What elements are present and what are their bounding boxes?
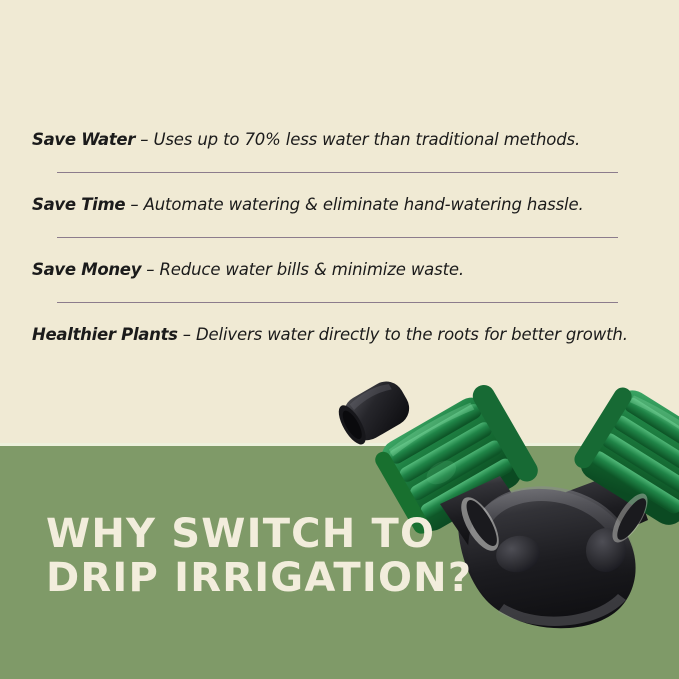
- benefit-term: Save Water: [32, 130, 135, 149]
- benefit-term: Healthier Plants: [32, 325, 178, 344]
- headline-line-1: WHY SWITCH TO: [46, 512, 466, 556]
- page-title: WHY SWITCH TO DRIP IRRIGATION?: [46, 512, 466, 600]
- benefit-divider-2: [57, 237, 618, 238]
- benefit-description: Delivers water directly to the roots for…: [196, 325, 628, 344]
- benefit-divider-1: [57, 172, 618, 173]
- benefit-text: Save Time – Automate watering & eliminat…: [32, 191, 647, 218]
- headline-line-2: DRIP IRRIGATION?: [46, 556, 466, 600]
- promo-banner: Save Water – Uses up to 70% less water t…: [0, 0, 679, 679]
- benefit-item-save-money: Save Money – Reduce water bills & minimi…: [0, 256, 679, 283]
- benefit-term: Save Time: [32, 195, 125, 214]
- benefit-divider-3: [57, 302, 618, 303]
- benefit-dash: –: [141, 260, 159, 279]
- benefit-term: Save Money: [32, 260, 141, 279]
- benefit-dash: –: [135, 130, 153, 149]
- benefit-item-healthier-plants: Healthier Plants – Delivers water direct…: [0, 321, 679, 348]
- benefit-dash: –: [125, 195, 143, 214]
- benefit-dash: –: [178, 325, 196, 344]
- benefit-description: Reduce water bills & minimize waste.: [159, 260, 464, 279]
- benefit-item-save-water: Save Water – Uses up to 70% less water t…: [0, 126, 679, 153]
- benefit-item-save-time: Save Time – Automate watering & eliminat…: [0, 191, 679, 218]
- benefit-text: Save Water – Uses up to 70% less water t…: [32, 126, 647, 153]
- benefit-text: Healthier Plants – Delivers water direct…: [32, 321, 647, 348]
- benefits-list: Save Water – Uses up to 70% less water t…: [0, 126, 679, 348]
- benefit-description: Uses up to 70% less water than tradition…: [153, 130, 580, 149]
- benefit-description: Automate watering & eliminate hand-water…: [144, 195, 584, 214]
- benefit-text: Save Money – Reduce water bills & minimi…: [32, 256, 647, 283]
